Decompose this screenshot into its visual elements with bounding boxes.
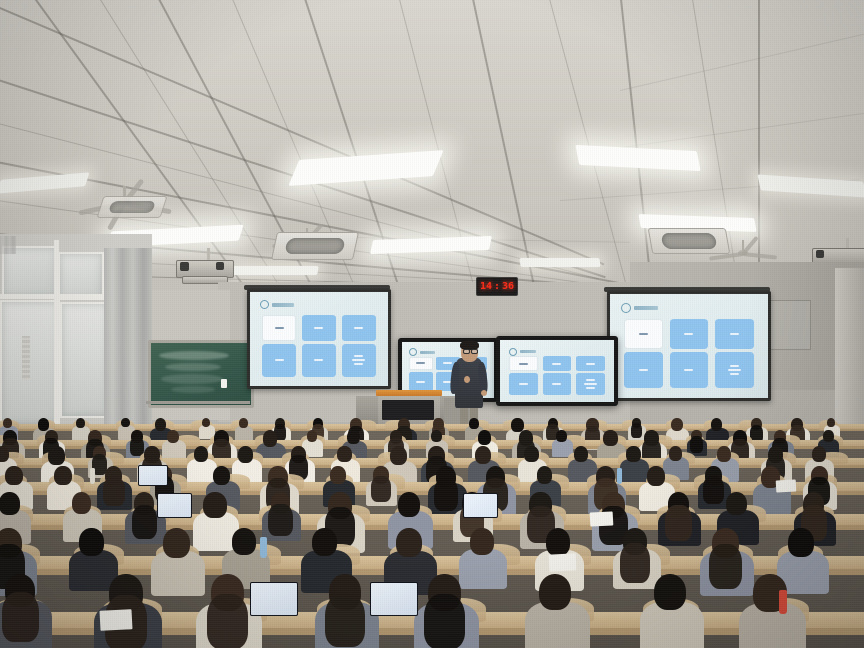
slide-card-grid	[509, 356, 605, 394]
window-pane	[0, 300, 60, 426]
paper-sheet	[100, 609, 133, 631]
student-head	[76, 418, 85, 428]
slide-card-grid	[262, 315, 375, 377]
student-head	[307, 430, 318, 442]
slide-card	[302, 315, 336, 341]
ceiling-light-panel	[519, 258, 600, 267]
slide-card-text	[728, 365, 741, 375]
student-head	[546, 528, 571, 556]
lcd-panel-center-right[interactable]	[496, 336, 618, 406]
student-head	[239, 418, 248, 428]
slide-card-text	[639, 369, 648, 371]
slide-card	[509, 373, 538, 394]
student-head	[213, 466, 230, 485]
slide-card-text	[416, 381, 425, 383]
slide-card	[670, 352, 709, 388]
student-head	[671, 418, 683, 431]
student-head	[72, 492, 91, 514]
presentation-logo	[509, 348, 605, 356]
lecture-hall-photo: 14 : 36	[0, 0, 864, 648]
student-head	[232, 528, 256, 555]
slide-card-grid	[624, 319, 754, 388]
window-curtain	[104, 248, 152, 426]
student-hair	[665, 505, 692, 541]
slide-card	[624, 319, 663, 349]
student-head	[5, 466, 22, 485]
slide-card	[409, 357, 432, 370]
student-hair	[424, 594, 465, 648]
lectern-top	[376, 390, 442, 396]
slide-card	[409, 372, 432, 392]
student-head	[827, 418, 835, 427]
slide-card-text	[684, 333, 693, 335]
tablet-device[interactable]	[463, 493, 498, 518]
chalkboard-tray	[146, 401, 250, 404]
slide-card	[262, 315, 296, 341]
student-hair	[631, 423, 642, 437]
slide-card-text	[314, 359, 323, 361]
student-head	[574, 446, 588, 462]
student-hair	[703, 476, 724, 504]
student-head	[38, 418, 49, 431]
student-head	[475, 446, 491, 464]
student-head	[167, 430, 179, 443]
water-bottle	[617, 468, 622, 484]
slide-card-text	[552, 363, 561, 365]
student-head	[398, 492, 420, 517]
led-clock: 14 : 36	[476, 277, 518, 296]
slide-card-text	[552, 383, 561, 385]
student-hair	[268, 504, 292, 536]
slide-card	[670, 319, 709, 349]
clock-separator: :	[494, 281, 500, 292]
student-hair	[371, 476, 391, 502]
slide-card	[543, 356, 572, 371]
student-head	[121, 418, 129, 427]
student-head	[390, 446, 407, 465]
slide-content	[500, 340, 614, 402]
student-head	[823, 430, 834, 442]
student-hair	[2, 592, 39, 642]
student-hair	[620, 543, 650, 583]
student-hair	[132, 505, 157, 539]
projection-screen-left[interactable]	[247, 289, 391, 389]
slide-card-text	[684, 369, 693, 371]
student-head	[238, 446, 253, 463]
slide-card	[302, 344, 336, 376]
slide-content	[250, 292, 388, 386]
student-head	[0, 446, 9, 462]
tablet-screen	[371, 583, 417, 615]
slide-card	[342, 315, 376, 341]
student-head	[194, 446, 209, 462]
slide-card-text	[314, 327, 323, 329]
slide-card	[624, 352, 663, 388]
student-hair	[709, 544, 742, 589]
student-head	[0, 492, 20, 515]
tablet-screen	[139, 466, 167, 485]
student-head	[431, 430, 442, 442]
student-head	[347, 430, 360, 444]
slide-card-text	[730, 333, 739, 335]
projection-screen-right[interactable]	[607, 291, 771, 401]
student-head	[396, 528, 422, 557]
student-head	[524, 446, 539, 462]
student-head	[263, 430, 278, 447]
student-torso	[151, 551, 205, 596]
student-head	[79, 528, 104, 556]
paper-sheet	[589, 511, 613, 527]
slide-card-text	[443, 362, 452, 364]
slide-card	[715, 352, 754, 388]
slide-card	[576, 373, 605, 394]
student-hair	[434, 478, 459, 511]
slide-card-text	[639, 333, 648, 335]
slide-card-text	[519, 383, 528, 385]
clock-hours: 14	[480, 281, 492, 292]
tablet-device[interactable]	[250, 582, 298, 616]
tablet-screen	[464, 494, 497, 517]
student-head	[155, 418, 166, 431]
student-head	[3, 418, 12, 428]
student-hair	[103, 477, 125, 506]
student-head	[726, 492, 747, 515]
student-head	[337, 446, 351, 462]
window-curtain	[0, 236, 16, 254]
slide-card-text	[584, 379, 597, 389]
window-security-grille	[22, 336, 30, 380]
slide-card	[715, 319, 754, 349]
student-head	[48, 446, 65, 465]
slide-card-text	[586, 363, 595, 365]
student-head	[539, 574, 571, 610]
tablet-device[interactable]	[370, 582, 418, 616]
slide-card-text	[416, 362, 425, 364]
window-pane	[60, 302, 110, 418]
chalk-eraser	[221, 379, 227, 388]
student-head	[812, 446, 827, 462]
water-bottle	[260, 537, 267, 558]
student-head	[312, 528, 337, 556]
tablet-device[interactable]	[138, 465, 168, 486]
student-torso	[459, 549, 507, 589]
window-mullion	[54, 240, 59, 426]
water-bottle	[779, 590, 787, 614]
clock-minutes: 36	[502, 281, 514, 292]
student-torso	[187, 459, 216, 484]
slide-card	[509, 356, 538, 371]
student-head	[788, 528, 814, 557]
student-head	[669, 446, 682, 461]
lectern-monitor[interactable]	[382, 400, 434, 420]
right-wall-column	[835, 268, 864, 434]
ac-cassette-unit	[648, 228, 731, 254]
slide-card	[543, 373, 572, 394]
tablet-screen	[251, 583, 297, 615]
student-head	[203, 492, 226, 518]
paper-sheet	[548, 553, 576, 571]
student-head	[511, 418, 523, 432]
tablet-device[interactable]	[157, 493, 192, 518]
slide-card	[576, 356, 605, 371]
student-head	[603, 430, 618, 446]
student-hair	[207, 594, 248, 648]
slide-card-text	[354, 327, 363, 329]
student-head	[647, 466, 665, 486]
student-head	[717, 446, 731, 462]
student-head	[469, 418, 479, 429]
slide-card	[342, 344, 376, 376]
student-head	[54, 466, 71, 485]
slide-card-text	[275, 327, 284, 329]
slide-card	[262, 344, 296, 376]
student-torso	[620, 459, 649, 483]
student-head	[470, 528, 494, 555]
ac-cassette-unit	[96, 196, 167, 218]
student-head	[478, 430, 491, 445]
student-head	[556, 430, 567, 442]
slide-content	[610, 294, 768, 398]
paper-sheet	[776, 479, 796, 492]
student-head	[330, 466, 346, 484]
tablet-screen	[158, 494, 191, 517]
student-hair	[690, 436, 703, 453]
student-head	[202, 418, 210, 427]
student-hair	[325, 594, 365, 647]
water-bottle	[90, 468, 95, 484]
student-head	[711, 418, 723, 431]
slide-card-text	[275, 359, 284, 361]
student-torso	[235, 426, 253, 441]
student-head	[537, 466, 553, 484]
presentation-logo	[260, 300, 379, 309]
window-pane	[58, 252, 104, 300]
ceiling-light-panel	[231, 266, 319, 275]
slide-card-text	[519, 363, 528, 365]
student-head	[626, 446, 640, 462]
student-head	[654, 574, 686, 610]
ac-cassette-unit	[271, 232, 359, 260]
chalkboard	[148, 340, 254, 408]
slide-card-text	[352, 355, 365, 365]
presentation-logo	[621, 303, 757, 313]
student-head	[163, 528, 190, 558]
